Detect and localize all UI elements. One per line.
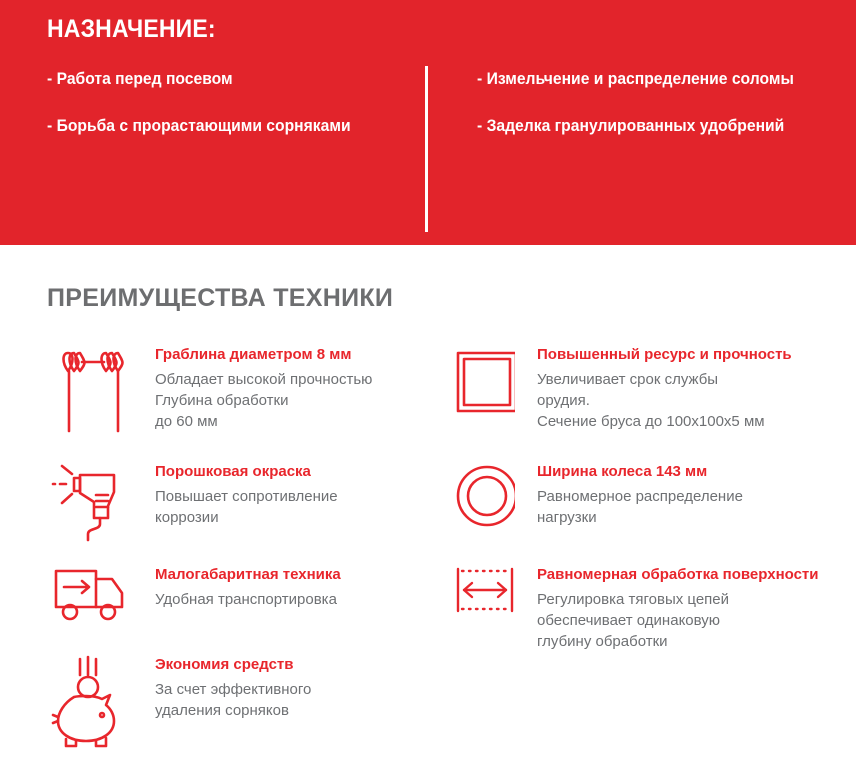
benefit-description: Равномерное распределение нагрузки (537, 486, 743, 529)
purpose-item: - Борьба с прорастающими сорняками (47, 115, 380, 138)
square-beam-icon (427, 345, 523, 425)
benefit-title: Малогабаритная техника (155, 565, 341, 585)
benefit-title: Граблина диаметром 8 мм (155, 345, 372, 365)
purpose-list-right: - Измельчение и распределение соломы - З… (477, 68, 817, 163)
harrow-tine-icon (45, 345, 141, 437)
purpose-title: НАЗНАЧЕНИЕ: (47, 15, 216, 44)
benefit-title: Повышенный ресурс и прочность (537, 345, 792, 365)
purpose-item: - Измельчение и распределение соломы (477, 68, 800, 91)
wheel-icon (427, 462, 523, 532)
width-arrow-icon (427, 565, 523, 615)
purpose-list-left: - Работа перед посевом - Борьба с прорас… (47, 68, 397, 163)
benefit-title: Ширина колеса 143 мм (537, 462, 743, 482)
benefit-description: Регулировка тяговых цепей обеспечивает о… (537, 589, 819, 653)
benefit-text: Равномерная обработка поверхности Регули… (537, 565, 819, 652)
benefit-description: Повышает сопротивление коррозии (155, 486, 338, 529)
benefit-description: Удобная транспортировка (155, 589, 341, 610)
benefit-title: Порошковая окраска (155, 462, 338, 482)
benefit-description: Обладает высокой прочностью Глубина обра… (155, 369, 372, 433)
purpose-banner: НАЗНАЧЕНИЕ: - Работа перед посевом - Бор… (0, 0, 856, 245)
advantages-heading: ПРЕИМУЩЕСТВА ТЕХНИКИ (47, 284, 393, 313)
benefit-text: Экономия средств За счет эффективного уд… (155, 655, 311, 721)
benefit-text: Граблина диаметром 8 мм Обладает высокой… (155, 345, 372, 432)
banner-vertical-divider (425, 66, 428, 232)
truck-icon (45, 565, 141, 625)
benefit-title: Экономия средств (155, 655, 311, 675)
spray-gun-icon (45, 462, 141, 544)
purpose-item: - Заделка гранулированных удобрений (477, 115, 800, 138)
benefit-text: Повышенный ресурс и прочность Увеличивае… (537, 345, 792, 432)
benefit-text: Порошковая окраска Повышает сопротивлени… (155, 462, 338, 528)
benefit-text: Малогабаритная техника Удобная транспорт… (155, 565, 341, 610)
benefit-description: За счет эффективного удаления сорняков (155, 679, 311, 722)
purpose-item: - Работа перед посевом (47, 68, 380, 91)
piggy-bank-icon (45, 655, 141, 750)
benefit-text: Ширина колеса 143 мм Равномерное распред… (537, 462, 743, 528)
benefit-description: Увеличивает срок службы орудия. Сечение … (537, 369, 792, 433)
benefit-title: Равномерная обработка поверхности (537, 565, 819, 585)
